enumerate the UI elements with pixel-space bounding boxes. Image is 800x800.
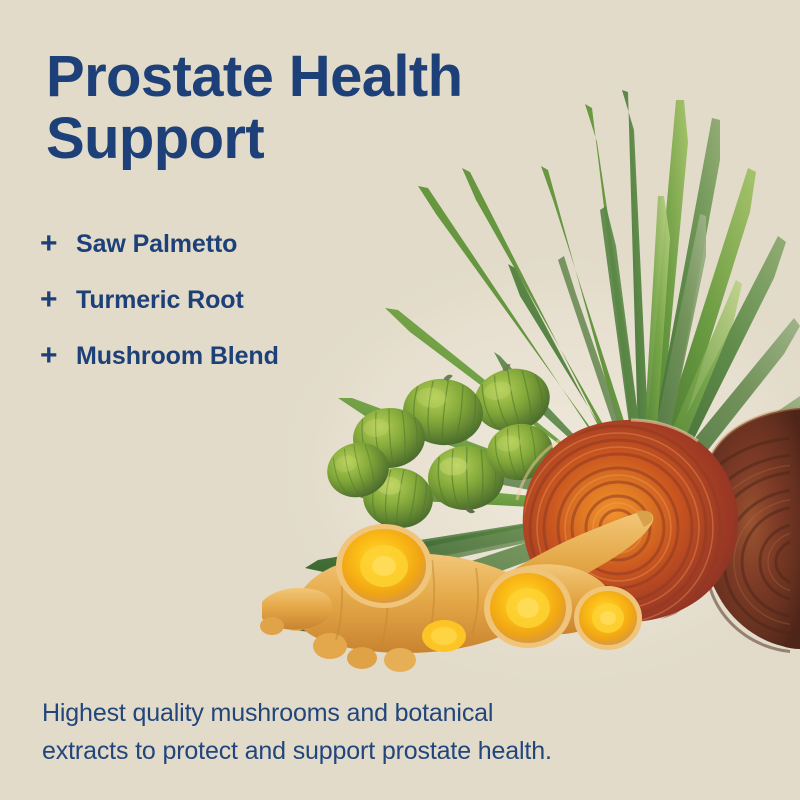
page-title-line-1: Prostate Health [46, 46, 566, 108]
tagline: Highest quality mushrooms and botanical … [42, 694, 682, 770]
benefit-item-turmeric-root: + Turmeric Root [38, 272, 458, 328]
plus-icon: + [38, 229, 76, 259]
plus-icon: + [38, 285, 76, 315]
tagline-line-2: extracts to protect and support prostate… [42, 732, 682, 770]
benefits-list: + Saw Palmetto + Turmeric Root + Mushroo… [38, 216, 458, 384]
page-title-line-2: Support [46, 108, 566, 170]
plus-icon: + [38, 341, 76, 371]
tagline-line-1: Highest quality mushrooms and botanical [42, 694, 682, 732]
product-hero-card: Prostate Health Support + Saw Palmetto +… [0, 0, 800, 800]
benefit-label: Turmeric Root [76, 286, 244, 315]
page-title: Prostate Health Support [46, 46, 566, 170]
text-layer: Prostate Health Support + Saw Palmetto +… [0, 0, 800, 800]
benefit-label: Mushroom Blend [76, 342, 279, 371]
benefit-label: Saw Palmetto [76, 230, 237, 259]
benefit-item-saw-palmetto: + Saw Palmetto [38, 216, 458, 272]
benefit-item-mushroom-blend: + Mushroom Blend [38, 328, 458, 384]
